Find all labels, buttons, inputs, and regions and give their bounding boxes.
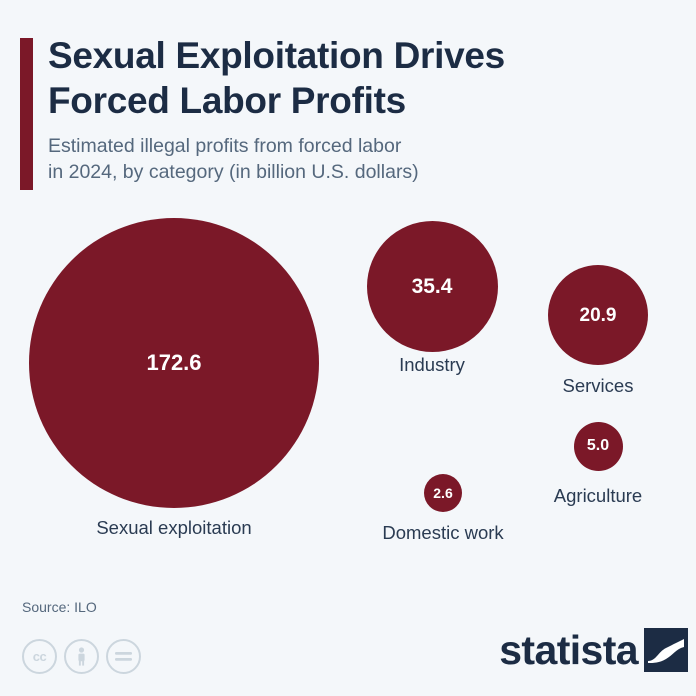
cc-badge-label: cc (33, 650, 46, 663)
bubble-value-services: 20.9 (580, 306, 617, 325)
bubble-agriculture[interactable]: 5.0 (574, 422, 623, 471)
statista-logo: statista (499, 628, 688, 672)
bubble-value-industry: 35.4 (412, 276, 453, 297)
bubble-chart: 172.6 Sexual exploitation 35.4 Industry … (0, 0, 696, 696)
bubble-services[interactable]: 20.9 (548, 265, 648, 365)
bubble-label-agriculture: Agriculture (554, 487, 642, 506)
cc-badge-icon: cc (22, 639, 57, 674)
source-note: Source: ILO (22, 599, 97, 615)
cc-nd-equals-icon (106, 639, 141, 674)
statista-swoosh-icon (644, 628, 688, 672)
bubble-value-sexual-exploitation: 172.6 (146, 352, 201, 374)
bubble-label-industry: Industry (399, 356, 465, 375)
bubble-label-sexual-exploitation: Sexual exploitation (96, 519, 251, 538)
bubble-label-services: Services (563, 377, 634, 396)
creative-commons-badges: cc (22, 639, 141, 674)
cc-by-person-icon (64, 639, 99, 674)
statista-infographic: Sexual Exploitation Drives Forced Labor … (0, 0, 696, 696)
bubble-label-domestic-work: Domestic work (382, 524, 503, 543)
bubble-sexual-exploitation[interactable]: 172.6 (29, 218, 319, 508)
statista-wordmark: statista (499, 630, 638, 671)
bubble-industry[interactable]: 35.4 (367, 221, 498, 352)
bubble-value-agriculture: 5.0 (587, 438, 609, 454)
bubble-domestic-work[interactable]: 2.6 (424, 474, 462, 512)
bubble-value-domestic-work: 2.6 (433, 486, 452, 500)
